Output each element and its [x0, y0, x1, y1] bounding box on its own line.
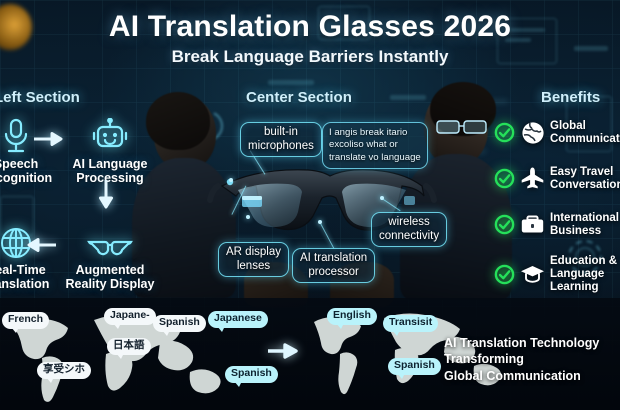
callout-built-in-microphones[interactable]: built-in microphones: [240, 122, 322, 157]
section-header-left: Left Section: [0, 89, 80, 106]
map-language-bubble-target[interactable]: Spanish: [388, 358, 441, 375]
map-language-bubble-source[interactable]: Spanish: [153, 315, 206, 332]
flow-step-label: Speech Recognition: [0, 157, 64, 185]
flow-arrow-down-icon: [99, 180, 113, 215]
callout-anchor-dot: [246, 215, 250, 219]
robot-icon: [62, 112, 158, 154]
flow-step-augmented-reality-display[interactable]: Augmented Reality Display: [62, 218, 158, 291]
callout-anchor-dot: [380, 196, 384, 200]
callout-anchor-dot: [318, 220, 322, 224]
flow-arrow-right-icon: [34, 132, 64, 151]
check-circle-icon: [494, 122, 515, 143]
infographic-canvas: AI Translation Glasses 2026 Break Langua…: [0, 0, 620, 410]
benefit-label: Education & Language Learning: [550, 255, 620, 294]
check-circle-icon: [494, 264, 515, 285]
page-subtitle: Break Language Barriers Instantly: [0, 47, 620, 67]
map-flow-arrow-icon: [268, 343, 298, 364]
map-language-bubble-source[interactable]: Japane-: [104, 308, 156, 325]
flow-arrow-left-icon: [26, 238, 56, 257]
map-language-bubble-target[interactable]: Transisit: [383, 315, 438, 332]
callout-anchor-dot: [229, 178, 233, 182]
benefit-item-easy-travel-conversation[interactable]: Easy Travel Conversation: [494, 166, 620, 192]
callout-ai-translation-processor[interactable]: AI translation processor: [292, 248, 375, 283]
section-header-benefits: Benefits: [541, 89, 600, 106]
globe-icon: [520, 120, 545, 145]
bottom-caption: AI Translation Technology Transforming G…: [444, 335, 599, 385]
airplane-icon: [520, 166, 545, 191]
map-language-bubble-target[interactable]: English: [327, 308, 377, 325]
benefit-item-education-language-learning[interactable]: Education & Language Learning: [494, 255, 620, 294]
benefit-item-global-communication[interactable]: Global Communication: [494, 120, 620, 146]
flow-step-label: Augmented Reality Display: [62, 263, 158, 291]
benefit-label: Global Communication: [550, 120, 620, 146]
map-language-bubble-source[interactable]: French: [2, 312, 49, 329]
glasses-icon: [62, 218, 158, 260]
title-block: AI Translation Glasses 2026 Break Langua…: [0, 10, 620, 67]
briefcase-icon: [520, 212, 545, 237]
page-title: AI Translation Glasses 2026: [0, 10, 620, 44]
check-circle-icon: [494, 214, 515, 235]
map-language-bubble-source[interactable]: 日本語: [107, 338, 151, 355]
graduation-cap-icon: [520, 262, 545, 287]
translation-speech-bubble: I angis break itario excoliso what or tr…: [322, 122, 428, 169]
benefit-item-international-business[interactable]: International Business: [494, 212, 619, 238]
map-language-bubble-target[interactable]: Japanese: [208, 311, 268, 328]
callout-ar-display-lenses[interactable]: AR display lenses: [218, 242, 289, 277]
map-language-bubble-target[interactable]: Spanish: [225, 366, 278, 383]
check-circle-icon: [494, 168, 515, 189]
hud-bar-decoration: [268, 80, 314, 85]
callout-wireless-connectivity[interactable]: wireless connectivity: [371, 212, 447, 247]
benefit-label: Easy Travel Conversation: [550, 166, 620, 192]
section-header-center: Center Section: [246, 89, 352, 106]
flow-step-label: Real-Time Translation: [0, 263, 64, 291]
benefit-label: International Business: [550, 212, 619, 238]
map-language-bubble-source[interactable]: 享受シホ: [37, 362, 91, 379]
flow-step-ai-language-processing[interactable]: AI Language Processing: [62, 112, 158, 185]
worn-ar-glasses-icon: [436, 118, 490, 136]
